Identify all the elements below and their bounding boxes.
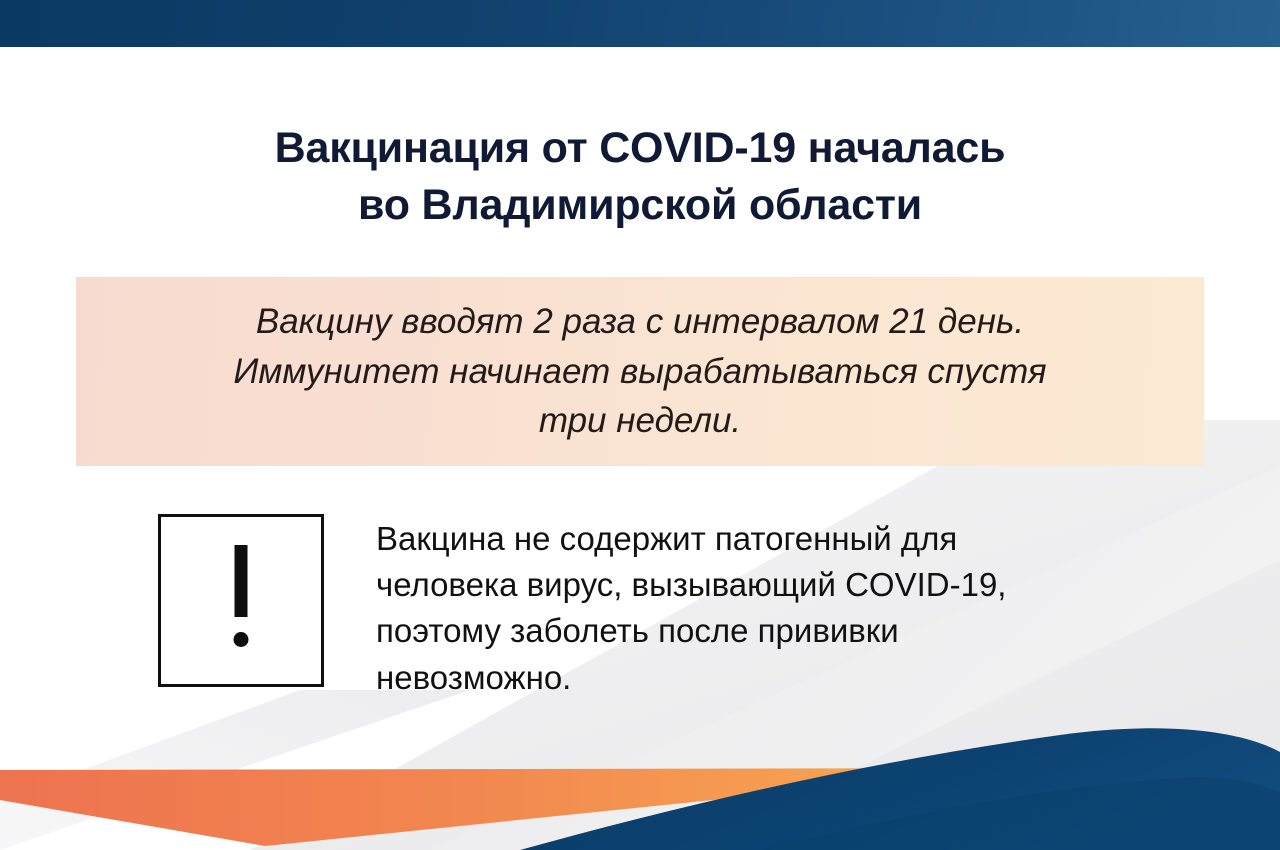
top-navy-band xyxy=(0,0,1280,47)
note-row: Вакцина не содержит патогенный для челов… xyxy=(158,514,1158,701)
navy-swoosh-inner xyxy=(760,777,1280,850)
title-line-2: во Владимирской области xyxy=(0,177,1280,234)
exclamation-bar xyxy=(235,545,248,617)
highlight-line-2: Иммунитет начинает вырабатываться спустя xyxy=(104,347,1176,397)
note-line-2: человека вирус, вызывающий COVID-19, xyxy=(376,562,1006,608)
title-line-1: Вакцинация от COVID-19 началась xyxy=(0,120,1280,177)
infographic-poster: Вакцинация от COVID-19 началась во Влади… xyxy=(0,0,1280,850)
highlight-line-1: Вакцину вводят 2 раза с интервалом 21 де… xyxy=(104,297,1176,347)
note-line-3: поэтому заболеть после прививки xyxy=(376,608,1006,654)
gray-diagonal-band-left xyxy=(0,690,470,850)
note-line-4: невозможно. xyxy=(376,655,1006,701)
orange-triangle xyxy=(0,768,1025,846)
highlight-text: Вакцину вводят 2 раза с интервалом 21 де… xyxy=(76,297,1204,446)
note-line-1: Вакцина не содержит патогенный для xyxy=(376,516,1006,562)
navy-swoosh xyxy=(520,728,1280,850)
exclamation-dot xyxy=(234,632,249,647)
note-text: Вакцина не содержит патогенный для челов… xyxy=(376,514,1006,701)
highlight-callout-box: Вакцину вводят 2 раза с интервалом 21 де… xyxy=(76,277,1204,466)
exclamation-mark-icon xyxy=(158,514,324,687)
page-title: Вакцинация от COVID-19 началась во Влади… xyxy=(0,120,1280,234)
highlight-line-3: три недели. xyxy=(104,396,1176,446)
